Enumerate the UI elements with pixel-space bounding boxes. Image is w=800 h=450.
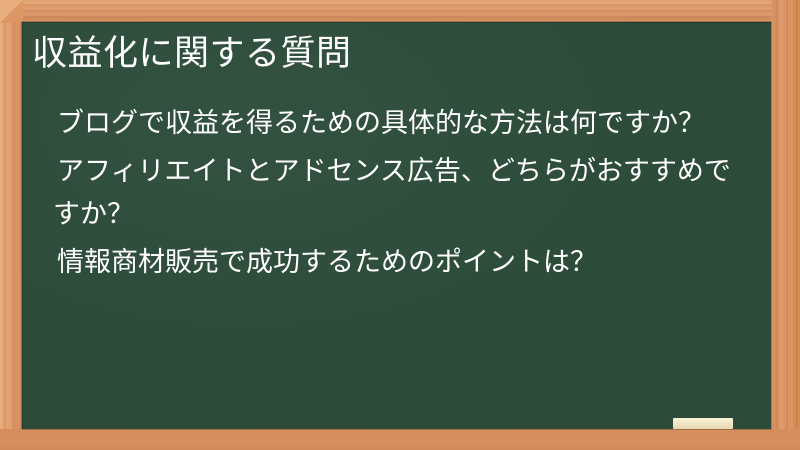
list-item: 情報商材販売で成功するためのポイントは？ (53, 241, 753, 284)
list-item: アフィリエイトとアドセンス広告、どちらがおすすめですか？ (53, 150, 753, 236)
chalkboard-surface: 収益化に関する質問 ブログで収益を得るための具体的な方法は何ですか？ アフィリエ… (22, 22, 771, 429)
chalk-stick-icon (673, 418, 733, 429)
frame-left-rail (0, 0, 22, 450)
frame-right-rail (771, 0, 800, 450)
frame-top-rail (0, 0, 800, 22)
page-title: 収益化に関する質問 (32, 32, 752, 76)
question-list: ブログで収益を得るための具体的な方法は何ですか？ アフィリエイトとアドセンス広告… (53, 102, 753, 289)
chalkboard-slide: 収益化に関する質問 ブログで収益を得るための具体的な方法は何ですか？ アフィリエ… (0, 0, 800, 450)
frame-bottom-rail (0, 429, 800, 450)
list-item: ブログで収益を得るための具体的な方法は何ですか？ (53, 102, 753, 145)
frame-corner-top-left (0, 0, 23, 23)
